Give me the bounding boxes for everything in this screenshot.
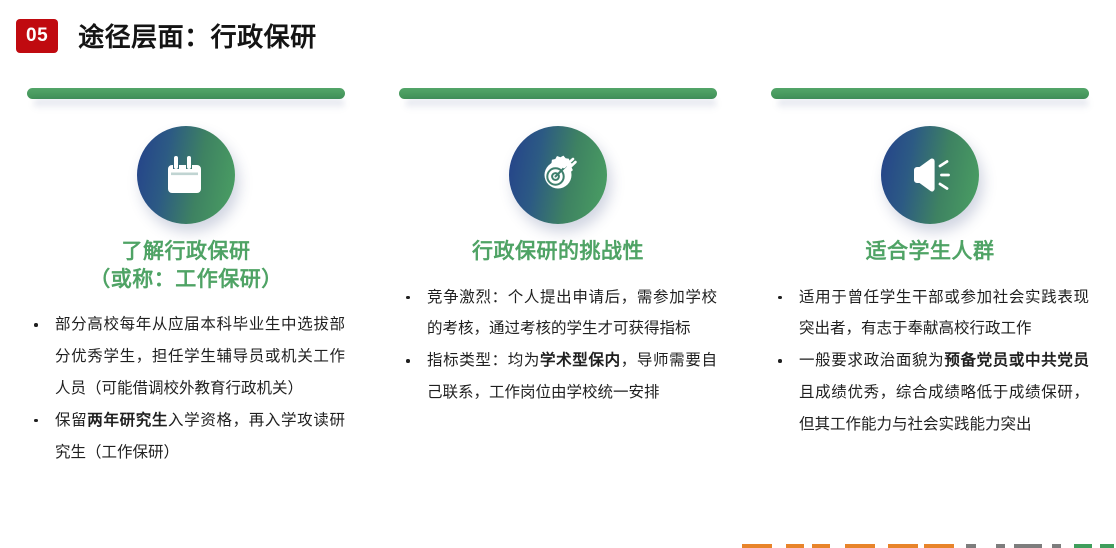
body-text: 保留: [55, 412, 87, 429]
next-slide-bleed: [0, 544, 1116, 548]
bullet-list: 部分高校每年从应届本科毕业生中选拔部分优秀学生，担任学生辅导员或机关工作人员（可…: [27, 309, 345, 468]
list-item: 竞争激烈：个人提出申请后，需参加学校的考核，通过考核的学生才可获得指标: [399, 282, 717, 346]
bleed-mark: [966, 544, 976, 548]
bleed-mark: [742, 544, 772, 548]
gear-target-icon: [535, 152, 581, 198]
list-item: 部分高校每年从应届本科毕业生中选拔部分优秀学生，担任学生辅导员或机关工作人员（可…: [27, 309, 345, 404]
bleed-mark: [996, 544, 1005, 548]
top-bar-shadow: [33, 99, 345, 110]
bullet-list: 竞争激烈：个人提出申请后，需参加学校的考核，通过考核的学生才可获得指标指标类型：…: [399, 282, 717, 409]
emphasis-text: 预备党员或中共党员: [944, 352, 1089, 369]
body-text: 竞争激烈：个人提出申请后，需参加学校的考核，通过考核的学生才可获得指标: [427, 289, 717, 338]
top-bar-shadow: [405, 99, 717, 110]
column-heading: 适合学生人群: [771, 238, 1089, 266]
column-heading-line2: （或称：工作保研）: [27, 266, 345, 294]
section-number-badge: 05: [16, 19, 58, 53]
list-item: 一般要求政治面貌为预备党员或中共党员且成绩优秀，综合成绩略低于成绩保研，但其工作…: [771, 345, 1089, 440]
bleed-mark: [1014, 544, 1042, 548]
content-column-1: 了解行政保研 （或称：工作保研） 部分高校每年从应届本科毕业生中选拔部分优秀学生…: [0, 88, 372, 484]
bleed-mark: [812, 544, 830, 548]
calendar-icon: [163, 152, 209, 198]
list-item: 指标类型：均为学术型保内，导师需要自己联系，工作岗位由学校统一安排: [399, 345, 717, 409]
content-columns: 了解行政保研 （或称：工作保研） 部分高校每年从应届本科毕业生中选拔部分优秀学生…: [0, 88, 1116, 484]
icon-circle-wrapper: [27, 126, 345, 224]
body-text: 指标类型：均为: [427, 352, 540, 369]
column-heading-line1: 了解行政保研: [27, 238, 345, 266]
column-top-bar: [399, 88, 717, 110]
icon-circle-wrapper: [771, 126, 1089, 224]
page-title: 途径层面：行政保研: [78, 17, 317, 54]
bleed-mark: [924, 544, 954, 548]
top-bar-fill: [27, 88, 345, 99]
column-heading-line1: 适合学生人群: [771, 238, 1089, 266]
bleed-mark: [1100, 544, 1114, 548]
emphasis-text: 两年研究生: [87, 412, 168, 429]
icon-circle: [509, 126, 607, 224]
content-column-3: 适合学生人群 适用于曾任学生干部或参加社会实践表现突出者，有志于奉献高校行政工作…: [744, 88, 1116, 484]
bullet-list: 适用于曾任学生干部或参加社会实践表现突出者，有志于奉献高校行政工作一般要求政治面…: [771, 282, 1089, 441]
bleed-mark: [786, 544, 804, 548]
column-top-bar: [27, 88, 345, 110]
emphasis-text: 学术型保内: [540, 352, 621, 369]
bleed-mark: [1052, 544, 1061, 548]
body-text: 且成绩优秀，综合成绩略低于成绩保研，但其工作能力与社会实践能力突出: [799, 384, 1089, 433]
column-heading-line1: 行政保研的挑战性: [399, 238, 717, 266]
slide-header: 05 途径层面：行政保研: [16, 17, 317, 54]
body-text: 部分高校每年从应届本科毕业生中选拔部分优秀学生，担任学生辅导员或机关工作人员（可…: [55, 316, 345, 397]
column-heading: 了解行政保研 （或称：工作保研）: [27, 238, 345, 293]
bleed-mark: [1074, 544, 1092, 548]
body-text: 适用于曾任学生干部或参加社会实践表现突出者，有志于奉献高校行政工作: [799, 289, 1089, 338]
list-item: 适用于曾任学生干部或参加社会实践表现突出者，有志于奉献高校行政工作: [771, 282, 1089, 346]
megaphone-icon: [907, 152, 953, 198]
column-heading: 行政保研的挑战性: [399, 238, 717, 266]
bleed-mark: [888, 544, 918, 548]
column-top-bar: [771, 88, 1089, 110]
icon-circle-wrapper: [399, 126, 717, 224]
content-column-2: 行政保研的挑战性 竞争激烈：个人提出申请后，需参加学校的考核，通过考核的学生才可…: [372, 88, 744, 484]
body-text: 一般要求政治面貌为: [799, 352, 944, 369]
icon-circle: [881, 126, 979, 224]
bleed-mark: [845, 544, 875, 548]
list-item: 保留两年研究生入学资格，再入学攻读研究生（工作保研）: [27, 405, 345, 469]
icon-circle: [137, 126, 235, 224]
top-bar-shadow: [777, 99, 1089, 110]
top-bar-fill: [399, 88, 717, 99]
top-bar-fill: [771, 88, 1089, 99]
